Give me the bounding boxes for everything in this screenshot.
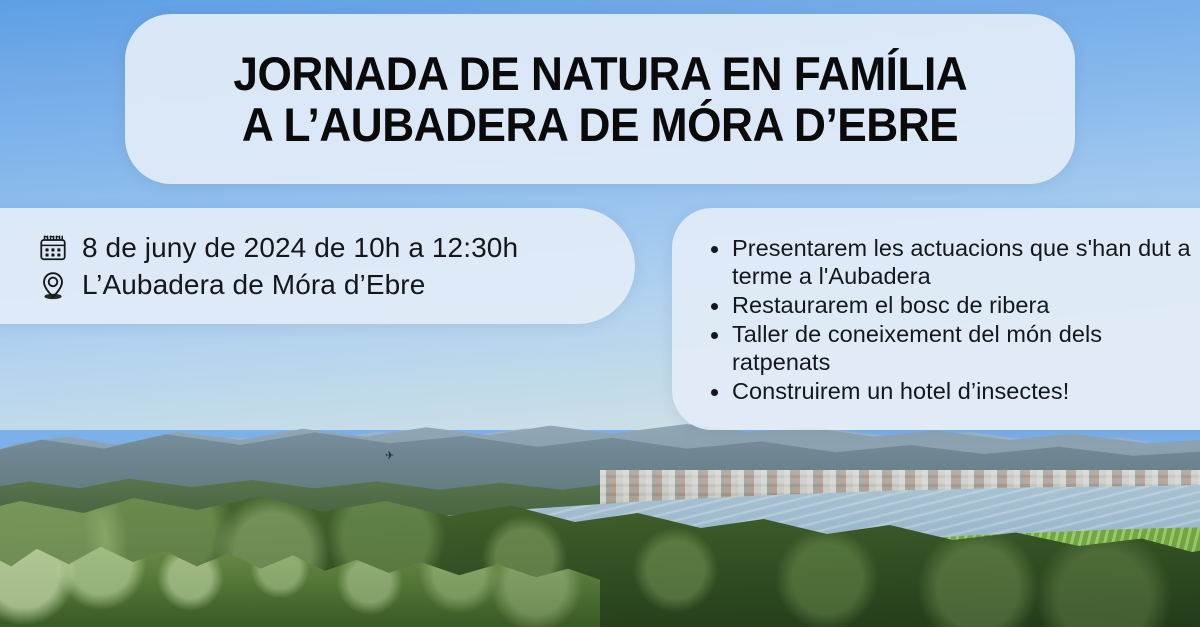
list-item: Construirem un hotel d’insectes!	[706, 378, 1192, 406]
poster-canvas: ✈ JORNADA DE NATURA EN FAMÍLIA A L’AUBAD…	[0, 0, 1200, 627]
event-location-text: L’Aubadera de Móra d’Ebre	[82, 269, 425, 301]
activities-panel: Presentarem les actuacions que s'han dut…	[672, 208, 1200, 430]
list-item: Taller de coneixement del món dels ratpe…	[706, 321, 1192, 377]
title-line-1: JORNADA DE NATURA EN FAMÍLIA	[233, 49, 967, 98]
event-info-rows: 8 de juny de 2024 de 10h a 12:30h L’Auba…	[38, 232, 518, 301]
bird-silhouette-icon: ✈	[385, 452, 395, 460]
activities-list: Presentarem les actuacions que s'han dut…	[706, 235, 1192, 407]
calendar-icon	[38, 232, 68, 264]
location-pin-icon	[38, 269, 68, 301]
list-item: Restaurarem el bosc de ribera	[706, 292, 1192, 320]
title-line-2: A L’AUBADERA DE MÓRA D’EBRE	[242, 100, 958, 149]
event-date-row: 8 de juny de 2024 de 10h a 12:30h	[38, 232, 518, 264]
event-date-text: 8 de juny de 2024 de 10h a 12:30h	[82, 232, 518, 264]
list-item: Presentarem les actuacions que s'han dut…	[706, 235, 1192, 291]
title-panel: JORNADA DE NATURA EN FAMÍLIA A L’AUBADER…	[125, 14, 1075, 184]
event-info-panel: 8 de juny de 2024 de 10h a 12:30h L’Auba…	[0, 208, 635, 324]
event-location-row: L’Aubadera de Móra d’Ebre	[38, 269, 518, 301]
